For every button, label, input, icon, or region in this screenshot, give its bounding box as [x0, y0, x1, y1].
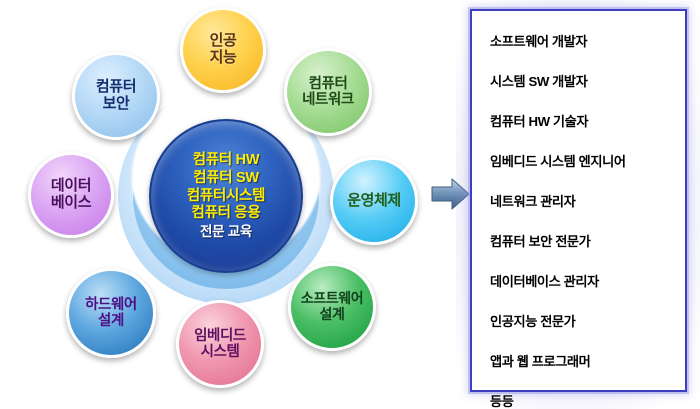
bubble-hwdesign-line-2: 설계	[98, 313, 124, 329]
hub-line-1: 컴퓨터 HW	[193, 152, 259, 169]
hub-line-2: 컴퓨터 SW	[193, 170, 259, 187]
list-item: 임베디드 시스템 엔지니어	[490, 151, 685, 170]
bubble-hardware-design[interactable]: 하드웨어 설계	[66, 268, 156, 358]
bubble-computer-network[interactable]: 컴퓨터 네트워크	[284, 48, 372, 136]
bubble-os-line-1: 운영체제	[347, 193, 401, 210]
bubble-artificial-intelligence[interactable]: 인공 지능	[180, 7, 266, 93]
bubble-swdesign-line-1: 소프트웨어	[301, 291, 363, 307]
list-item: 소프트웨어 개발자	[490, 31, 685, 50]
bubble-database-line-1: 데이터	[51, 178, 91, 195]
bubble-software-design[interactable]: 소프트웨어 설계	[288, 263, 376, 351]
careers-list: 소프트웨어 개발자 시스템 SW 개발자 컴퓨터 HW 기술자 임베디드 시스템…	[472, 31, 685, 409]
list-item: 컴퓨터 HW 기술자	[490, 111, 685, 130]
bubble-operating-system[interactable]: 운영체제	[330, 157, 418, 245]
list-item: 인공지능 전문가	[490, 311, 685, 330]
list-item: 등등	[490, 391, 685, 409]
bubble-database-line-2: 베이스	[51, 195, 91, 212]
bubble-embedded-line-2: 시스템	[201, 344, 240, 360]
bubble-network-line-1: 컴퓨터	[309, 76, 348, 92]
list-item: 시스템 SW 개발자	[490, 71, 685, 90]
bubble-ai-line-2: 지능	[210, 50, 237, 67]
list-item: 네트워크 관리자	[490, 191, 685, 210]
hub-core-circle[interactable]: 컴퓨터 HW 컴퓨터 SW 컴퓨터시스템 컴퓨터 응용 전문 교육	[149, 119, 303, 273]
bubble-security-line-1: 컴퓨터	[96, 79, 136, 96]
bubble-swdesign-line-2: 설계	[320, 307, 345, 323]
bubble-embedded-line-1: 임베디드	[194, 328, 246, 344]
hub-subtitle: 전문 교육	[200, 224, 252, 240]
hub-line-3: 컴퓨터시스템	[187, 188, 265, 205]
bubble-hwdesign-line-1: 하드웨어	[85, 297, 137, 313]
hub-line-4: 컴퓨터 응용	[192, 205, 261, 222]
diagram-canvas: 컴퓨터 HW 컴퓨터 SW 컴퓨터시스템 컴퓨터 응용 전문 교육 인공 지능 …	[0, 0, 700, 409]
bubble-ai-line-1: 인공	[210, 33, 237, 50]
bubble-security-line-2: 보안	[103, 96, 130, 113]
arrow-right-icon	[428, 172, 472, 216]
bubble-database[interactable]: 데이터 베이스	[28, 152, 114, 238]
bubble-embedded-system[interactable]: 임베디드 시스템	[176, 300, 264, 388]
list-item: 데이터베이스 관리자	[490, 271, 685, 290]
list-item: 앱과 웹 프로그래머	[490, 351, 685, 370]
list-item: 컴퓨터 보안 전문가	[490, 231, 685, 250]
careers-panel: 소프트웨어 개발자 시스템 SW 개발자 컴퓨터 HW 기술자 임베디드 시스템…	[470, 9, 687, 392]
bubble-computer-security[interactable]: 컴퓨터 보안	[72, 52, 160, 140]
bubble-network-line-2: 네트워크	[302, 92, 354, 108]
